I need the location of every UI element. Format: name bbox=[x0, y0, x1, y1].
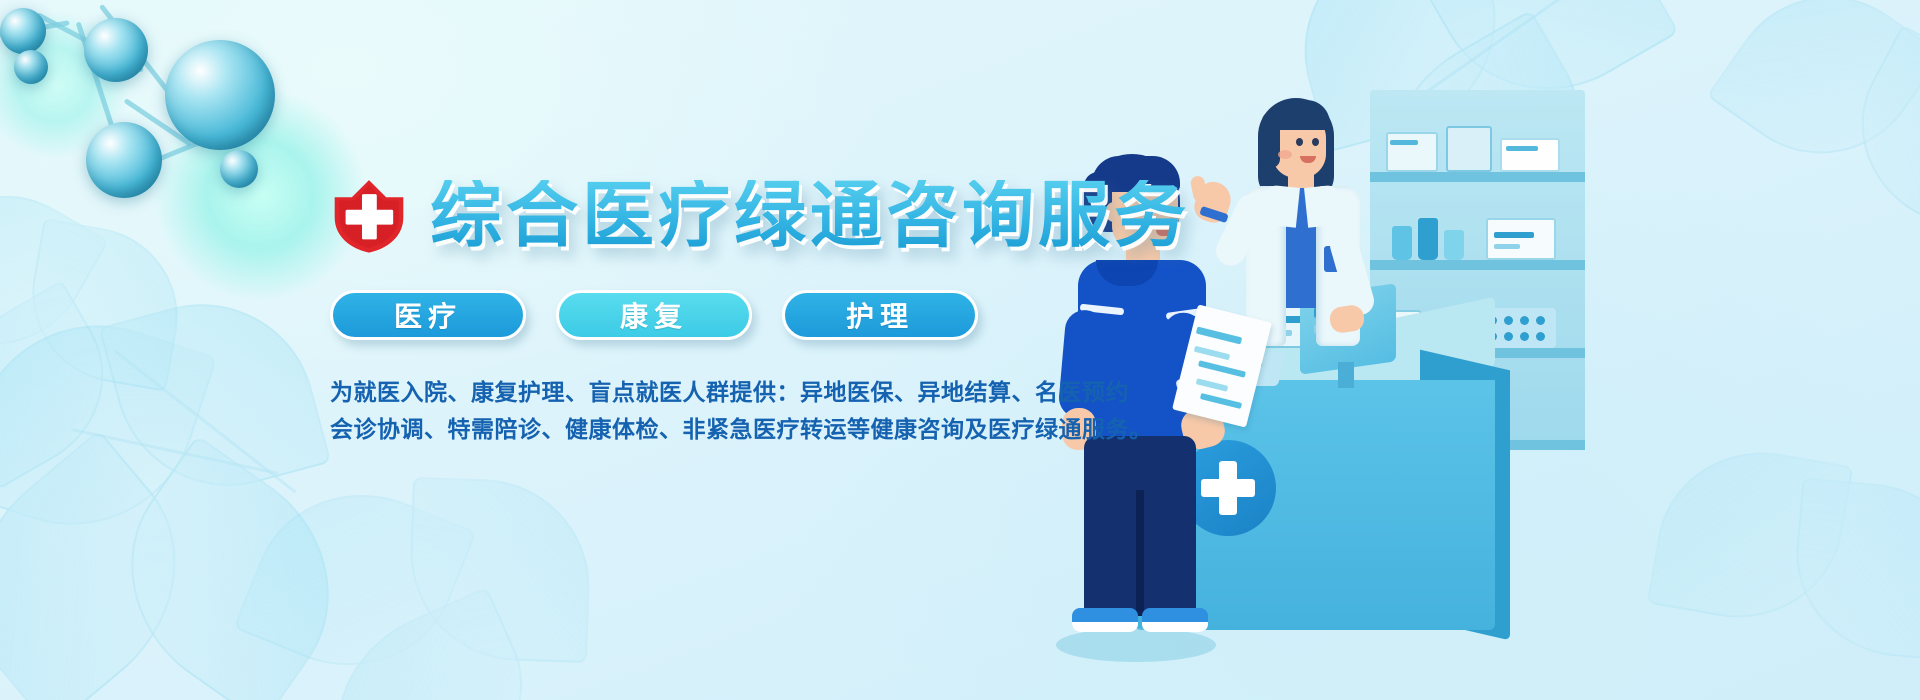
red-medical-cross-icon bbox=[330, 177, 408, 255]
healthcare-banner: 综合医疗绿通咨询服务 医疗 康复 护理 为就医入院、康复护理、盲点就医人群提供：… bbox=[0, 0, 1920, 700]
service-tag-label: 护理 bbox=[846, 295, 914, 335]
medicine-box bbox=[1386, 132, 1438, 172]
service-tag-label: 医疗 bbox=[394, 295, 462, 335]
medicine-box bbox=[1486, 218, 1556, 260]
medicine-box bbox=[1446, 126, 1492, 172]
customer-floor-shadow bbox=[1056, 628, 1216, 662]
molecule-atom bbox=[0, 8, 46, 54]
molecule-atom bbox=[86, 122, 162, 198]
title-row: 综合医疗绿通咨询服务 bbox=[330, 170, 1200, 262]
molecule-atom bbox=[165, 40, 275, 150]
description-line-2: 会诊协调、特需陪诊、健康体检、非紧急医疗转运等健康咨询及医疗绿通服务。 bbox=[330, 411, 1070, 448]
service-tag-medical[interactable]: 医疗 bbox=[330, 290, 526, 340]
medicine-vial bbox=[1392, 226, 1412, 260]
service-tag-list: 医疗 康复 护理 bbox=[330, 290, 1200, 340]
molecule-atom bbox=[220, 150, 258, 188]
medicine-vial bbox=[1444, 230, 1464, 260]
molecule-atom bbox=[14, 50, 48, 84]
molecule-atom bbox=[84, 18, 148, 82]
banner-description: 为就医入院、康复护理、盲点就医人群提供：异地医保、异地结算、名医预约 会诊协调、… bbox=[330, 374, 1070, 449]
medicine-box bbox=[1500, 138, 1560, 172]
banner-content: 综合医疗绿通咨询服务 医疗 康复 护理 为就医入院、康复护理、盲点就医人群提供：… bbox=[330, 170, 1200, 449]
service-tag-rehabilitation[interactable]: 康复 bbox=[556, 290, 752, 340]
flower-silhouette-bottom-center bbox=[240, 470, 660, 700]
service-tag-nursing[interactable]: 护理 bbox=[782, 290, 978, 340]
page-title: 综合医疗绿通咨询服务 bbox=[430, 180, 1190, 252]
service-tag-label: 康复 bbox=[620, 295, 688, 335]
flower-silhouette-left-mid bbox=[0, 170, 220, 470]
medicine-vial bbox=[1418, 218, 1438, 260]
description-line-1: 为就医入院、康复护理、盲点就医人群提供：异地医保、异地结算、名医预约 bbox=[330, 374, 1070, 411]
flower-silhouette-right-edge bbox=[1720, 0, 1920, 290]
